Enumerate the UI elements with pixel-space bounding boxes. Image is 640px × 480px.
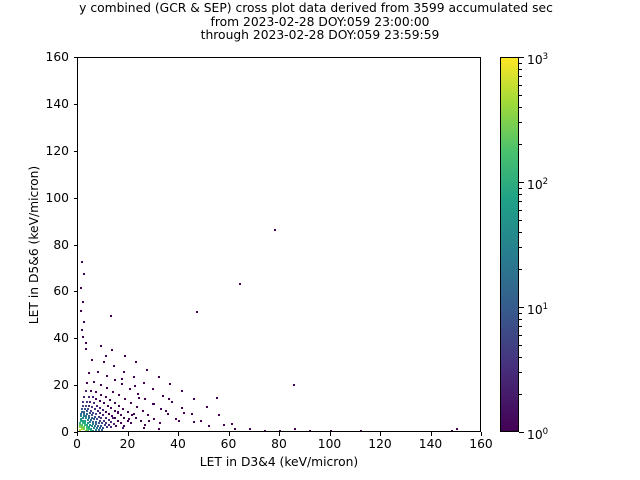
x-tick-mark: [229, 432, 230, 436]
data-point: [92, 396, 94, 398]
data-point: [133, 376, 135, 378]
data-point: [181, 407, 183, 409]
plot-axes: [77, 57, 481, 432]
colorbar-minor-tick: [519, 194, 522, 195]
colorbar-minor-tick: [519, 269, 522, 270]
data-point: [100, 394, 102, 396]
data-point: [88, 372, 90, 374]
y-tick-label: 80: [53, 238, 69, 252]
data-point: [136, 406, 138, 408]
colorbar-minor-tick: [519, 63, 522, 64]
data-point: [208, 425, 210, 427]
data-point: [147, 414, 149, 416]
data-point: [234, 428, 236, 430]
data-point: [121, 383, 123, 385]
data-point: [158, 428, 160, 430]
x-tick-mark: [279, 432, 280, 436]
data-point: [216, 397, 218, 399]
colorbar-minor-tick: [519, 201, 522, 202]
y-tick-label: 60: [53, 284, 69, 298]
colorbar-tick-mark: [519, 182, 524, 183]
data-point: [102, 414, 104, 416]
figure-canvas: y combined (GCR & SEP) cross plot data d…: [0, 0, 640, 480]
data-point: [94, 408, 96, 410]
data-point: [108, 413, 110, 415]
colorbar-minor-tick: [519, 372, 522, 373]
data-point: [158, 376, 160, 378]
data-point: [144, 424, 146, 426]
y-tick-mark: [74, 151, 78, 152]
y-tick-mark: [74, 385, 78, 386]
data-point: [178, 420, 180, 422]
data-point: [98, 429, 100, 431]
colorbar-minor-tick: [519, 247, 522, 248]
title-line-3: through 2023-02-28 DOY:059 23:59:59: [0, 29, 640, 43]
data-point: [87, 408, 89, 410]
data-point: [113, 365, 115, 367]
data-point: [159, 422, 161, 424]
x-tick-mark: [330, 432, 331, 436]
data-point: [140, 420, 142, 422]
colorbar-minor-tick: [519, 345, 522, 346]
colorbar-minor-tick: [519, 326, 522, 327]
x-tick-label: 20: [108, 437, 148, 451]
data-point: [138, 397, 140, 399]
data-point: [122, 408, 124, 410]
data-point: [82, 405, 84, 407]
data-point: [96, 405, 98, 407]
y-tick-mark: [74, 291, 78, 292]
data-point: [249, 428, 251, 430]
colorbar-minor-tick: [519, 232, 522, 233]
data-point: [160, 408, 162, 410]
data-point: [169, 383, 171, 385]
data-point: [167, 413, 169, 415]
data-point: [144, 398, 146, 400]
data-point: [123, 417, 125, 419]
data-point: [85, 348, 87, 350]
data-point: [171, 401, 173, 403]
colorbar-minor-tick: [519, 357, 522, 358]
colorbar-tick-label: 102: [527, 174, 548, 190]
data-point: [330, 430, 332, 431]
x-tick-mark: [380, 432, 381, 436]
data-point: [85, 342, 87, 344]
colorbar-minor-tick: [519, 220, 522, 221]
data-point: [81, 329, 83, 331]
plot-title: y combined (GCR & SEP) cross plot data d…: [0, 2, 640, 43]
data-point: [95, 398, 97, 400]
data-point: [181, 390, 183, 392]
data-point: [264, 430, 266, 431]
data-point: [191, 413, 193, 415]
data-point: [92, 412, 94, 414]
x-tick-label: 120: [360, 437, 400, 451]
data-point: [93, 381, 95, 383]
data-point: [152, 388, 154, 390]
data-point: [106, 387, 108, 389]
data-point: [103, 361, 105, 363]
data-point: [81, 408, 83, 410]
data-point: [105, 396, 107, 398]
data-point: [112, 391, 114, 393]
colorbar-minor-tick: [519, 313, 522, 314]
data-point: [82, 336, 84, 338]
data-point: [127, 411, 129, 413]
data-point: [102, 409, 104, 411]
y-tick-label: 20: [53, 378, 69, 392]
data-point: [110, 407, 112, 409]
y-tick-mark: [74, 104, 78, 105]
data-point: [83, 413, 85, 415]
data-point: [193, 421, 195, 423]
colorbar-tick-mark: [519, 307, 524, 308]
data-point: [83, 396, 85, 398]
data-point: [90, 390, 92, 392]
data-point: [110, 426, 112, 428]
data-point: [137, 393, 139, 395]
data-point: [106, 375, 108, 377]
y-tick-label: 100: [46, 191, 69, 205]
data-point: [102, 427, 104, 429]
data-point: [143, 382, 145, 384]
data-point: [88, 405, 90, 407]
data-point: [142, 410, 144, 412]
data-point: [146, 369, 148, 371]
data-point: [239, 283, 241, 285]
data-point: [148, 420, 150, 422]
y-tick-mark: [74, 338, 78, 339]
data-point: [193, 398, 195, 400]
data-point: [81, 261, 83, 263]
title-line-2: from 2023-02-28 DOY:059 23:00:00: [0, 16, 640, 30]
data-point: [128, 418, 130, 420]
colorbar-minor-tick: [519, 394, 522, 395]
colorbar-minor-tick: [519, 76, 522, 77]
data-point: [114, 410, 116, 412]
data-point: [279, 430, 281, 431]
data-point: [99, 412, 101, 414]
y-axis-label: LET in D5&6 (keV/micron): [27, 135, 41, 355]
data-point: [105, 411, 107, 413]
data-point: [83, 273, 85, 275]
data-point: [111, 349, 113, 351]
data-point: [110, 315, 112, 317]
data-point: [91, 406, 93, 408]
data-point: [231, 423, 233, 425]
x-tick-label: 80: [259, 437, 299, 451]
data-point: [106, 426, 108, 428]
data-point: [123, 425, 125, 427]
data-point: [101, 429, 103, 431]
colorbar-tick-mark: [519, 57, 524, 58]
data-point: [86, 401, 88, 403]
data-point: [86, 410, 88, 412]
data-point: [103, 402, 105, 404]
y-tick-mark: [74, 57, 78, 58]
data-point: [175, 418, 177, 420]
colorbar-tick-label: 101: [527, 299, 548, 315]
data-point: [80, 310, 82, 312]
data-point: [114, 402, 116, 404]
colorbar-minor-tick: [519, 95, 522, 96]
data-point: [206, 406, 208, 408]
data-point: [83, 321, 85, 323]
colorbar-minor-tick: [519, 144, 522, 145]
data-point: [153, 403, 155, 405]
data-point: [165, 410, 167, 412]
data-point: [80, 287, 82, 289]
data-point: [294, 428, 296, 430]
data-point: [105, 355, 107, 357]
data-point: [91, 359, 93, 361]
x-tick-label: 100: [310, 437, 350, 451]
colorbar-tick-mark: [519, 432, 524, 433]
y-tick-label: 140: [46, 97, 69, 111]
data-point: [124, 398, 126, 400]
y-tick-mark: [74, 245, 78, 246]
x-tick-label: 140: [411, 437, 451, 451]
data-point: [168, 398, 170, 400]
data-point: [130, 402, 132, 404]
data-point: [133, 413, 135, 415]
data-point: [95, 391, 97, 393]
data-point: [121, 378, 123, 380]
colorbar: [500, 57, 519, 432]
x-tick-mark: [178, 432, 179, 436]
x-tick-mark: [431, 432, 432, 436]
data-point: [115, 425, 117, 427]
data-point: [85, 390, 87, 392]
colorbar-minor-tick: [519, 319, 522, 320]
data-point: [108, 419, 110, 421]
data-point: [123, 371, 125, 373]
y-tick-label: 120: [46, 144, 69, 158]
data-point: [85, 405, 87, 407]
data-point: [99, 407, 101, 409]
data-point: [93, 402, 95, 404]
colorbar-tick-label: 100: [527, 424, 548, 440]
data-point: [456, 428, 458, 430]
x-axis-label: LET in D3&4 (keV/micron): [77, 455, 481, 469]
data-point: [100, 384, 102, 386]
data-point: [82, 401, 84, 403]
data-point: [118, 405, 120, 407]
colorbar-minor-tick: [519, 335, 522, 336]
y-tick-label: 40: [53, 331, 69, 345]
data-point: [97, 371, 99, 373]
data-point: [92, 430, 94, 431]
colorbar-minor-tick: [519, 69, 522, 70]
data-point: [196, 311, 198, 313]
y-tick-label: 160: [46, 50, 69, 64]
data-point: [135, 361, 137, 363]
data-point: [124, 355, 126, 357]
x-tick-mark: [77, 432, 78, 436]
data-point: [451, 430, 453, 431]
data-point: [83, 411, 85, 413]
y-tick-mark: [74, 198, 78, 199]
data-point: [134, 385, 136, 387]
data-point: [130, 422, 132, 424]
data-point: [107, 405, 109, 407]
data-point: [223, 424, 225, 426]
title-line-1: y combined (GCR & SEP) cross plot data d…: [0, 2, 640, 16]
data-point: [135, 417, 137, 419]
colorbar-minor-tick: [519, 107, 522, 108]
data-point: [360, 430, 362, 431]
data-point: [129, 388, 131, 390]
y-tick-mark: [74, 432, 78, 433]
data-point: [143, 427, 145, 429]
data-point: [114, 417, 116, 419]
data-point: [117, 411, 119, 413]
data-point: [99, 400, 101, 402]
data-point: [86, 382, 88, 384]
data-point: [82, 301, 84, 303]
data-point: [100, 345, 102, 347]
colorbar-minor-tick: [519, 122, 522, 123]
colorbar-minor-tick: [519, 188, 522, 189]
data-point: [90, 410, 92, 412]
data-point: [309, 430, 311, 431]
data-point: [117, 420, 119, 422]
x-tick-mark: [128, 432, 129, 436]
data-point: [120, 422, 122, 424]
data-point: [293, 384, 295, 386]
data-point: [84, 408, 86, 410]
data-point: [274, 229, 276, 231]
colorbar-minor-tick: [519, 85, 522, 86]
data-point: [114, 379, 116, 381]
data-point: [118, 394, 120, 396]
data-point: [218, 414, 220, 416]
x-tick-label: 160: [461, 437, 501, 451]
x-tick-label: 40: [158, 437, 198, 451]
data-point: [153, 418, 155, 420]
data-point: [89, 401, 91, 403]
data-point: [183, 412, 185, 414]
data-point: [109, 399, 111, 401]
data-point: [112, 417, 114, 419]
scatter-plot-area: [78, 58, 480, 431]
data-point: [97, 410, 99, 412]
colorbar-minor-tick: [519, 210, 522, 211]
data-point: [200, 420, 202, 422]
y-tick-label: 0: [61, 425, 69, 439]
colorbar-tick-label: 103: [527, 49, 548, 65]
data-point: [162, 395, 164, 397]
x-tick-mark: [481, 432, 482, 436]
data-point: [81, 411, 83, 413]
data-point: [95, 429, 97, 431]
data-point: [88, 396, 90, 398]
data-point: [120, 414, 122, 416]
x-tick-label: 60: [209, 437, 249, 451]
data-point: [122, 427, 124, 429]
